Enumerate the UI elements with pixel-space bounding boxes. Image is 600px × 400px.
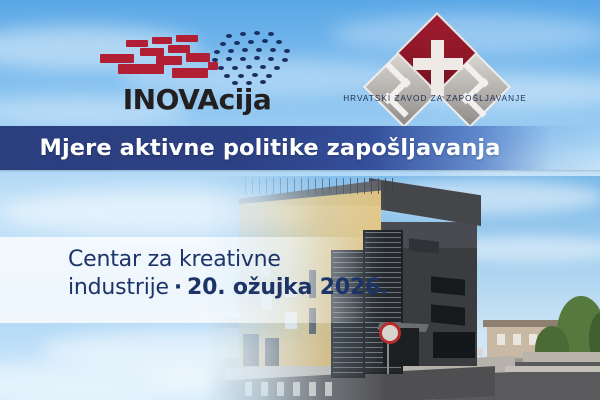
background-window	[497, 334, 505, 345]
dot-icon	[246, 65, 252, 69]
title-banner: Mjere aktivne politike zapošljavanja	[0, 126, 600, 170]
event-date: 20. ožujka 2026.	[187, 275, 388, 300]
dot-icon	[242, 48, 248, 52]
crosswalk-stripe	[325, 382, 332, 396]
entrance-door	[243, 334, 259, 366]
dot-icon	[234, 41, 240, 45]
headline-line-1: Centar za kreativne	[68, 246, 398, 274]
dot-icon	[260, 65, 266, 69]
headline-separator: ·	[174, 275, 182, 300]
dot-icon	[268, 57, 274, 61]
dot-icon	[268, 32, 274, 36]
crosswalk-stripe	[245, 382, 252, 396]
crosswalk-stripe	[261, 382, 268, 396]
cross-horizontal-icon	[413, 58, 463, 70]
hzz-caption: HRVATSKI ZAVOD ZA ZAPOŠLJAVANJE	[335, 94, 535, 103]
dot-icon	[252, 73, 258, 77]
storefront-glazing	[433, 332, 475, 358]
entrance-door	[265, 338, 279, 366]
dot-icon	[228, 49, 234, 53]
checker-block-icon	[100, 54, 134, 63]
headline-venue: industrije	[68, 275, 169, 300]
dot-icon	[254, 56, 260, 60]
checker-block-icon	[186, 53, 210, 62]
crosswalk-stripe	[277, 382, 284, 396]
dot-icon	[240, 32, 246, 36]
dot-icon	[256, 48, 262, 52]
checker-block-icon	[172, 68, 208, 78]
event-headline: Centar za kreativne industrije·20. ožujk…	[68, 246, 398, 302]
checker-block-icon	[140, 48, 164, 56]
road-sign-icon	[379, 322, 401, 344]
roof-railing	[245, 178, 395, 194]
dot-icon	[214, 50, 220, 54]
banner-title: Mjere aktivne politike zapošljavanja	[0, 126, 540, 170]
dot-icon	[226, 34, 232, 38]
checker-block-icon	[118, 64, 164, 74]
curb	[505, 366, 600, 372]
hzz-logo: HRVATSKI ZAVOD ZA ZAPOŠLJAVANJE	[335, 22, 535, 114]
checker-block-icon	[126, 40, 148, 47]
dot-icon	[254, 31, 260, 35]
crosswalk-stripe	[309, 382, 316, 396]
dot-icon	[262, 39, 268, 43]
promo-poster: INOVAcija HRVATSKI ZAVOD ZA ZAPOŠLJAVANJ…	[0, 0, 600, 400]
checker-block-icon	[152, 37, 172, 44]
dot-icon	[218, 66, 224, 70]
dot-icon	[270, 48, 276, 52]
dot-icon	[220, 42, 226, 46]
checker-block-icon	[168, 45, 190, 53]
checker-block-icon	[176, 35, 198, 42]
dot-icon	[274, 66, 280, 70]
checker-block-icon	[208, 62, 218, 70]
dot-icon	[248, 40, 254, 44]
inovacija-logo: INOVAcija	[100, 28, 290, 118]
dot-icon	[276, 40, 282, 44]
dot-icon	[266, 74, 272, 78]
background-window	[513, 334, 521, 345]
logo-row: INOVAcija HRVATSKI ZAVOD ZA ZAPOŠLJAVANJ…	[0, 0, 600, 122]
dot-icon	[240, 57, 246, 61]
dot-icon	[224, 74, 230, 78]
headline-line-2: industrije·20. ožujka 2026.	[68, 274, 398, 302]
dot-icon	[226, 57, 232, 61]
dot-icon	[284, 49, 290, 53]
dot-icon	[212, 58, 218, 62]
dot-icon	[232, 66, 238, 70]
crosswalk-stripe	[293, 382, 300, 396]
dot-icon	[282, 58, 288, 62]
dot-icon	[238, 74, 244, 78]
inovacija-wordmark: INOVAcija	[102, 86, 292, 114]
